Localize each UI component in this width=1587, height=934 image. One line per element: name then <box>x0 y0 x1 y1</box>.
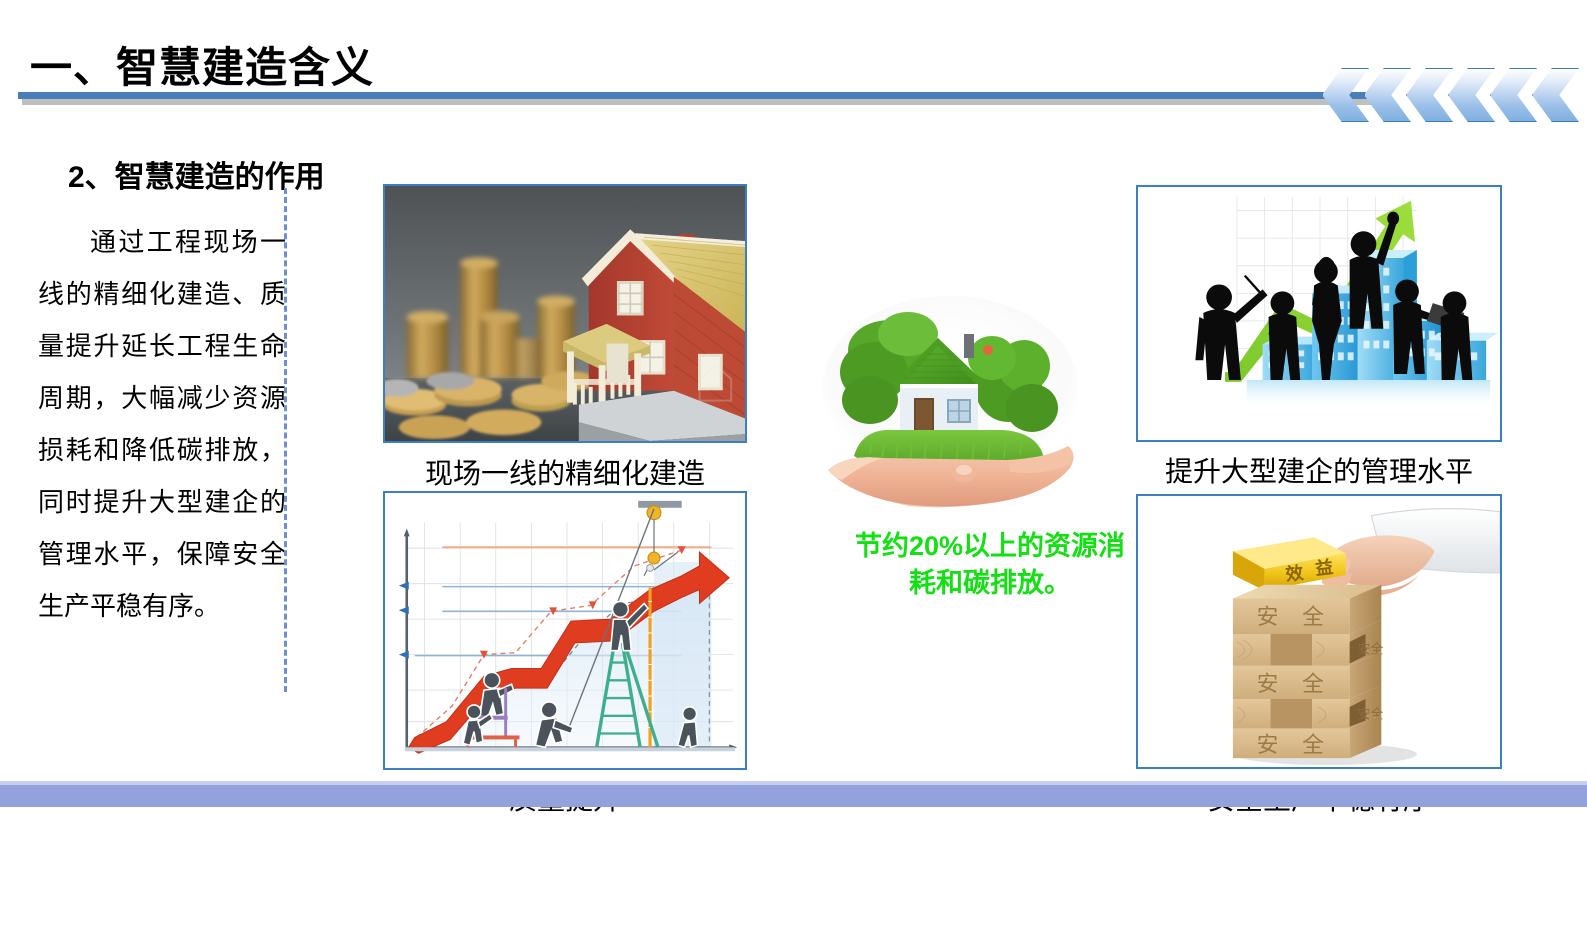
svg-text:全: 全 <box>1302 732 1324 757</box>
chevron-left-icon <box>1406 68 1453 122</box>
svg-text:全: 全 <box>1302 604 1324 629</box>
header-rule-shadow <box>22 99 1394 105</box>
chevron-left-icon <box>1364 68 1411 122</box>
page-title: 一、智慧建造含义 <box>30 34 374 95</box>
safety-blocks-illustration: 效 益 安 全 安全 安 全 <box>1138 496 1500 767</box>
growth-chart-illustration <box>385 493 745 768</box>
figure-caption-business-team: 提升大型建企的管理水平 <box>1136 450 1502 490</box>
svg-text:安: 安 <box>1257 604 1279 629</box>
chevron-left-icon <box>1490 68 1537 122</box>
business-team-illustration <box>1138 187 1500 440</box>
coins-house-illustration <box>385 186 745 441</box>
svg-text:效: 效 <box>1284 562 1304 585</box>
figure-growth-chart <box>383 491 747 770</box>
eco-house-illustration <box>812 288 1088 520</box>
body-paragraph: 通过工程现场一线的精细化建造、质量提升延长工程生命周期，大幅减少资源损耗和降低碳… <box>38 216 286 632</box>
green-callout-text: 节约20%以上的资源消耗和碳排放。 <box>845 528 1135 602</box>
chevron-left-icon <box>1322 68 1369 122</box>
chevron-left-icon <box>1448 68 1495 122</box>
chevron-decoration <box>1322 68 1582 122</box>
figure-business-team <box>1136 185 1502 442</box>
chevron-left-icon <box>1532 68 1579 122</box>
svg-text:益: 益 <box>1314 556 1334 579</box>
header-rule <box>18 92 1388 99</box>
vertical-dashed-divider <box>284 188 287 692</box>
svg-text:安: 安 <box>1257 671 1279 696</box>
svg-text:安: 安 <box>1257 732 1279 757</box>
figure-eco-house-in-hand <box>812 288 1088 520</box>
figure-caption-coins-house: 现场一线的精细化建造 <box>383 452 747 492</box>
figure-safety-blocks: 效 益 安 全 安全 安 全 <box>1136 494 1502 769</box>
footer-band <box>0 785 1587 807</box>
figure-coins-house <box>383 184 747 443</box>
svg-text:全: 全 <box>1302 671 1324 696</box>
